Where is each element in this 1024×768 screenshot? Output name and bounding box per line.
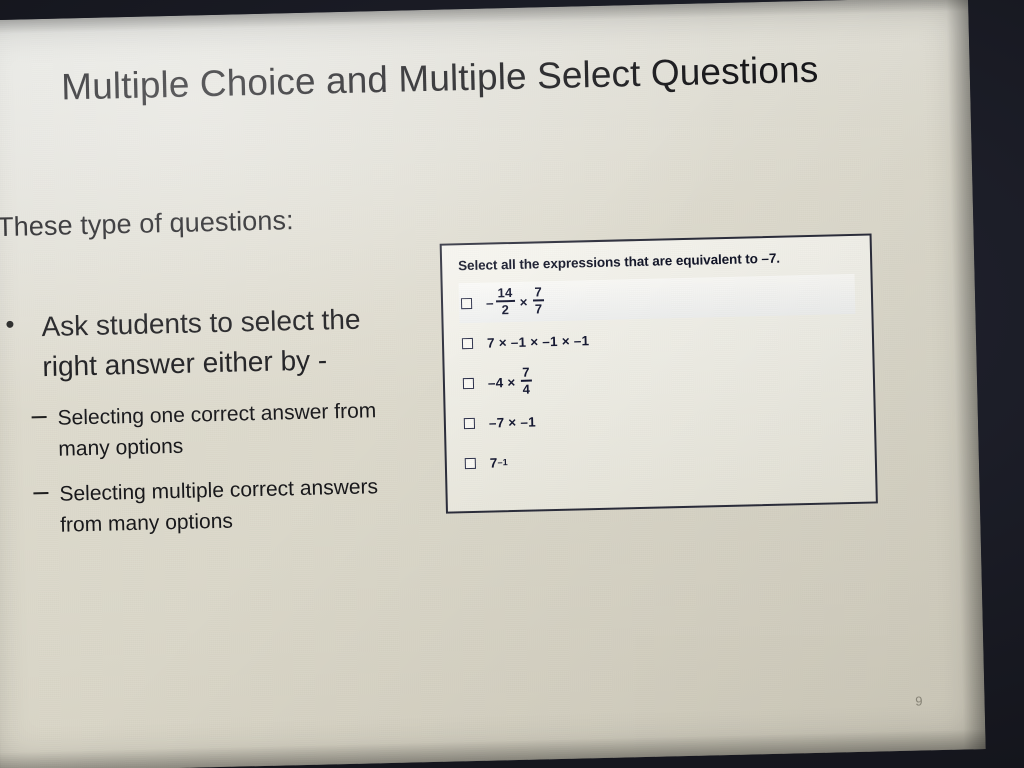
bullet-sub-label: Selecting multiple correct answers from … [59, 475, 378, 537]
multiplication-operator: × [562, 333, 570, 348]
dash-bullet-icon [33, 492, 48, 494]
bullet-list: Ask students to select the right answer … [0, 298, 423, 556]
fraction-numerator: 7 [520, 366, 532, 380]
bullet-sub-label: Selecting one correct answer from many o… [57, 399, 376, 461]
multiplication-operator: × [508, 414, 516, 429]
answer-option-row[interactable]: 7–1 [462, 434, 859, 483]
multiplication-operator: × [499, 335, 507, 350]
bullet-item-sub: Selecting one correct answer from many o… [57, 394, 420, 465]
fraction-denominator: 4 [520, 382, 532, 396]
checkbox-icon[interactable] [462, 337, 473, 348]
fraction-numerator: 7 [532, 285, 544, 299]
sub-bullet-list: Selecting one correct answer from many o… [0, 394, 422, 542]
checkbox-icon[interactable] [464, 417, 475, 428]
expression-term: –7 [489, 415, 505, 430]
lead-line-text: These type of questions: [0, 205, 294, 243]
presentation-slide-wrapper: Multiple Choice and Multiple Select Ques… [0, 0, 986, 768]
bullet-item-primary: Ask students to select the right answer … [0, 298, 419, 387]
checkbox-icon[interactable] [465, 457, 476, 468]
multiplication-operator: × [519, 294, 527, 309]
presentation-slide: Multiple Choice and Multiple Select Ques… [0, 0, 986, 768]
exponent: –1 [497, 457, 508, 467]
fraction: 77 [532, 285, 544, 315]
bullet-dot-icon [6, 321, 13, 328]
multiplication-operator: × [507, 374, 515, 389]
fraction-numerator: 14 [495, 286, 514, 300]
expression-term: 7 [487, 335, 495, 350]
slide-content: Multiple Choice and Multiple Select Ques… [0, 0, 986, 768]
expression-term: –4 [488, 375, 504, 390]
answer-option-expression: –142×77 [486, 286, 546, 317]
embedded-question-screenshot: Select all the expressions that are equi… [440, 234, 878, 514]
answer-option-expression: 7×–1×–1×–1 [487, 333, 590, 350]
expression-term: –1 [542, 333, 558, 348]
answer-option-expression: –7×–1 [489, 414, 536, 430]
dash-bullet-icon [32, 415, 47, 417]
answer-option-expression: –4×74 [488, 366, 534, 397]
slide-photograph: Multiple Choice and Multiple Select Ques… [0, 0, 1024, 768]
multiplication-operator: × [530, 334, 538, 349]
expression-term: –1 [574, 333, 590, 348]
fraction: 142 [495, 286, 515, 317]
bullet-item-sub: Selecting multiple correct answers from … [59, 470, 422, 541]
expression-term: –1 [520, 414, 536, 429]
fraction-denominator: 2 [500, 303, 512, 317]
expression-term: –1 [511, 334, 527, 349]
slide-page-number: 9 [915, 693, 923, 708]
fraction: 74 [520, 366, 532, 396]
fraction-denominator: 7 [533, 302, 545, 316]
answer-option-expression: 7–1 [490, 455, 508, 470]
negative-sign: – [486, 295, 494, 310]
slide-title: Multiple Choice and Multiple Select Ques… [39, 42, 840, 116]
bullet-primary-label: Ask students to select the right answer … [41, 304, 361, 382]
checkbox-icon[interactable] [463, 377, 474, 388]
question-prompt: Select all the expressions that are equi… [458, 249, 854, 273]
answer-options-list[interactable]: –142×777×–1×–1×–1–4×74–7×–17–1 [459, 274, 860, 483]
checkbox-icon[interactable] [461, 297, 472, 308]
